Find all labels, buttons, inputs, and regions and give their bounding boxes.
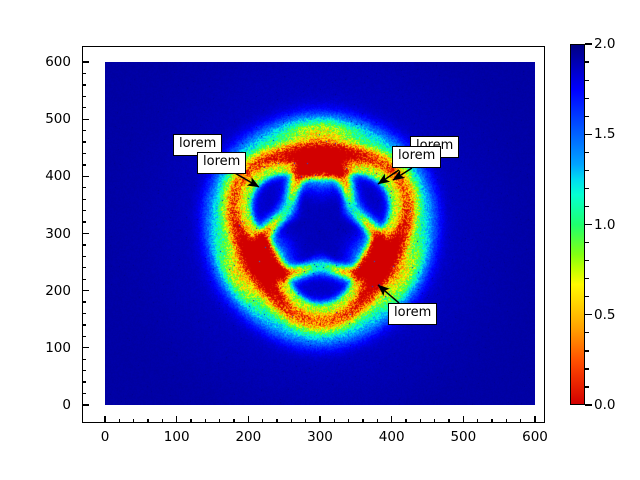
colorbar-tick-major (585, 224, 592, 225)
colorbar-tick-minor (585, 98, 589, 99)
annotation-label[interactable]: lorem (197, 152, 246, 174)
y-tick-major (82, 404, 89, 405)
y-tick-minor (82, 324, 86, 325)
y-tick-major (82, 61, 89, 62)
x-tick-minor (377, 419, 378, 423)
x-tick-minor (520, 419, 521, 423)
x-tick-minor (477, 419, 478, 423)
x-tick-label: 100 (164, 429, 190, 445)
y-tick-minor (82, 267, 86, 268)
y-tick-label: 400 (0, 168, 71, 184)
colorbar-tick-label: 0.5 (594, 307, 615, 323)
x-tick-minor (434, 419, 435, 423)
y-tick-major (82, 119, 89, 120)
x-tick-major (104, 416, 105, 423)
x-tick-major (534, 416, 535, 423)
x-tick-major (176, 416, 177, 423)
x-tick-minor (348, 419, 349, 423)
y-tick-major (82, 290, 89, 291)
y-tick-minor (82, 199, 86, 200)
x-tick-minor (448, 419, 449, 423)
colorbar-tick-minor (585, 296, 589, 297)
colorbar-tick-minor (585, 188, 589, 189)
colorbar-tick-label: 0.0 (594, 397, 615, 413)
colorbar-tick-minor (585, 61, 589, 62)
colorbar-tick-minor (585, 332, 589, 333)
annotation-label[interactable]: lorem (392, 146, 441, 168)
x-tick-label: 400 (379, 429, 405, 445)
y-tick-minor (82, 381, 86, 382)
x-tick-minor (291, 419, 292, 423)
x-tick-major (248, 416, 249, 423)
colorbar-tick-label: 1.5 (594, 126, 615, 142)
colorbar-tick-minor (585, 368, 589, 369)
y-tick-minor (82, 370, 86, 371)
y-tick-major (82, 347, 89, 348)
figure-canvas: 0100200300400500600 0100200300400500600 … (0, 0, 640, 480)
x-tick-label: 300 (307, 429, 333, 445)
x-tick-minor (147, 419, 148, 423)
x-tick-minor (491, 419, 492, 423)
colorbar-tick-major (585, 43, 592, 44)
colorbar-tick-major (585, 134, 592, 135)
y-tick-minor (82, 256, 86, 257)
x-tick-minor (119, 419, 120, 423)
y-tick-minor (82, 84, 86, 85)
colorbar-tick-minor (585, 206, 589, 207)
x-tick-minor (305, 419, 306, 423)
x-tick-minor (334, 419, 335, 423)
y-tick-minor (82, 107, 86, 108)
y-tick-label: 300 (0, 226, 71, 242)
x-tick-minor (162, 419, 163, 423)
colorbar-tick-minor (585, 80, 589, 81)
x-tick-minor (405, 419, 406, 423)
colorbar-tick-minor (585, 242, 589, 243)
colorbar-tick-major (585, 314, 592, 315)
x-tick-label: 0 (101, 429, 110, 445)
colorbar-tick-label: 1.0 (594, 217, 615, 233)
x-tick-label: 500 (450, 429, 476, 445)
y-tick-label: 600 (0, 54, 71, 70)
y-tick-minor (82, 279, 86, 280)
colorbar-tick-minor (585, 278, 589, 279)
y-tick-minor (82, 73, 86, 74)
y-tick-minor (82, 141, 86, 142)
colorbar-tick-minor (585, 152, 589, 153)
y-tick-minor (82, 393, 86, 394)
colorbar-tick-minor (585, 116, 589, 117)
colorbar-tick-label: 2.0 (594, 36, 615, 52)
y-tick-minor (82, 187, 86, 188)
y-tick-major (82, 233, 89, 234)
x-tick-minor (233, 419, 234, 423)
x-tick-minor (362, 419, 363, 423)
y-tick-minor (82, 244, 86, 245)
x-tick-label: 200 (235, 429, 261, 445)
colorbar-tick-minor (585, 386, 589, 387)
x-tick-minor (205, 419, 206, 423)
y-tick-minor (82, 153, 86, 154)
colorbar-tick-major (585, 404, 592, 405)
y-tick-label: 200 (0, 283, 71, 299)
y-tick-minor (82, 130, 86, 131)
y-tick-minor (82, 336, 86, 337)
colorbar (570, 44, 585, 405)
colorbar-tick-minor (585, 260, 589, 261)
y-tick-label: 500 (0, 111, 71, 127)
x-tick-minor (219, 419, 220, 423)
x-tick-major (391, 416, 392, 423)
x-tick-minor (506, 419, 507, 423)
y-tick-minor (82, 359, 86, 360)
x-tick-minor (262, 419, 263, 423)
y-tick-minor (82, 210, 86, 211)
x-tick-minor (190, 419, 191, 423)
y-tick-minor (82, 164, 86, 165)
x-tick-minor (420, 419, 421, 423)
y-tick-label: 100 (0, 340, 71, 356)
colorbar-tick-minor (585, 350, 589, 351)
colorbar-tick-minor (585, 170, 589, 171)
y-tick-minor (82, 221, 86, 222)
y-tick-minor (82, 313, 86, 314)
x-tick-major (319, 416, 320, 423)
x-tick-major (463, 416, 464, 423)
y-tick-minor (82, 96, 86, 97)
x-tick-minor (276, 419, 277, 423)
heatmap-image (105, 62, 535, 405)
annotation-label[interactable]: lorem (388, 303, 437, 325)
y-tick-minor (82, 301, 86, 302)
y-tick-label: 0 (0, 397, 71, 413)
x-tick-minor (133, 419, 134, 423)
x-tick-label: 600 (522, 429, 548, 445)
colorbar-gradient (571, 45, 584, 404)
y-tick-major (82, 176, 89, 177)
